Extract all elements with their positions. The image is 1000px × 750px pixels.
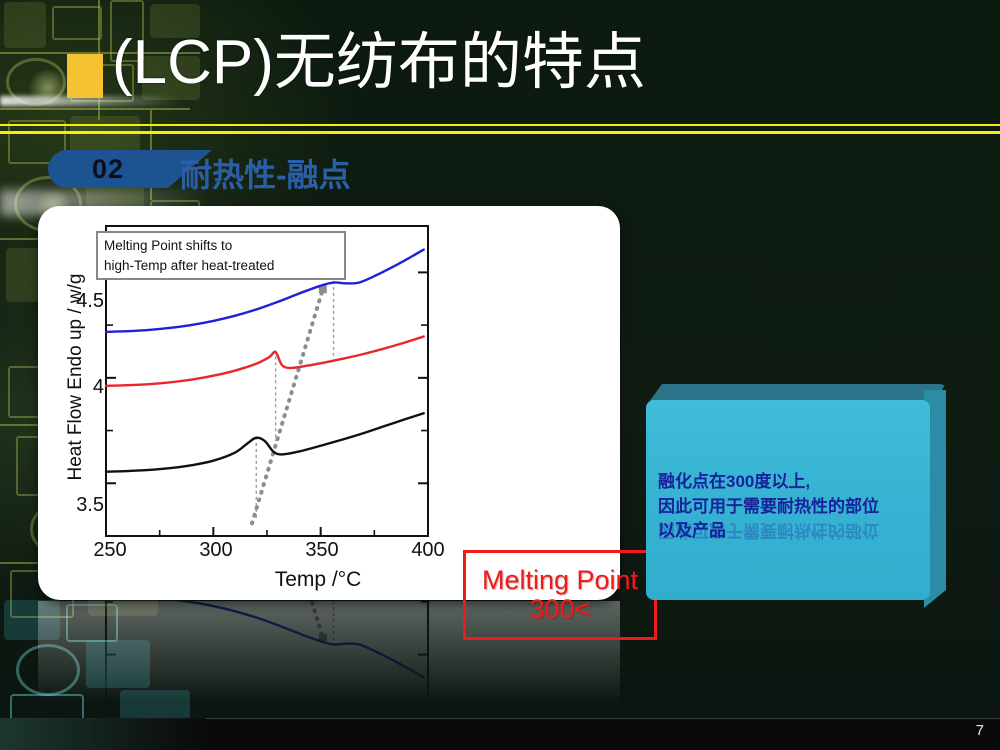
cyan-callout-box: 融化点在300度以上, 因此可用于需要耐热性的部位 以及产品 因此可用于需要耐热… <box>646 384 946 616</box>
chart-x-tick-3: 400 <box>398 539 458 562</box>
page-title: (LCP)无纺布的特点 <box>112 32 646 94</box>
chart-annotation-box: Melting Point shifts to high-Temp after … <box>96 231 346 280</box>
chart-y-tick-2: 3.5 <box>58 494 104 517</box>
cyan-callout-line2: 因此可用于需要耐热性的部位 <box>658 497 879 516</box>
divider-rule-bottom <box>0 131 1000 134</box>
chart-x-tick-2: 350 <box>292 539 352 562</box>
chart-card: Heat Flow Endo up / w/g 4.5 4 3.5 250 30… <box>38 206 620 600</box>
cyan-callout-line2-reflection: 因此可用于需要耐热性的部位 <box>658 517 930 542</box>
slide-canvas: (LCP)无纺布的特点 02 耐热性-融点 Heat Flow Endo up … <box>0 0 1000 750</box>
section-number: 02 <box>48 150 168 188</box>
chart-x-tick-1: 300 <box>186 539 246 562</box>
chart-y-tick-1: 4 <box>58 376 104 399</box>
cyan-callout-text: 融化点在300度以上, 因此可用于需要耐热性的部位 以及产品 因此可用于需要耐热… <box>658 470 930 567</box>
section-subtitle: 耐热性-融点 <box>180 150 351 196</box>
melting-point-callout: Melting Point 300< <box>463 550 657 640</box>
footer-bar-left <box>0 718 205 750</box>
chart-x-axis-label: Temp /°C <box>178 568 458 592</box>
melting-point-line2: 300< <box>530 595 591 624</box>
cyan-callout-line1: 融化点在300度以上, <box>658 472 810 491</box>
divider-rule-top <box>0 124 1000 126</box>
melting-point-line1: Melting Point <box>482 566 638 595</box>
chart-y-tick-0: 4.5 <box>58 290 104 313</box>
title-bullet-square <box>67 54 103 98</box>
chart-plot-area: Heat Flow Endo up / w/g 4.5 4 3.5 250 30… <box>38 206 620 600</box>
chart-annotation-line1: Melting Point shifts to <box>104 236 338 256</box>
page-number: 7 <box>976 722 984 739</box>
chart-x-tick-0: 250 <box>80 539 140 562</box>
chart-annotation-line2: high-Temp after heat-treated <box>104 256 338 276</box>
